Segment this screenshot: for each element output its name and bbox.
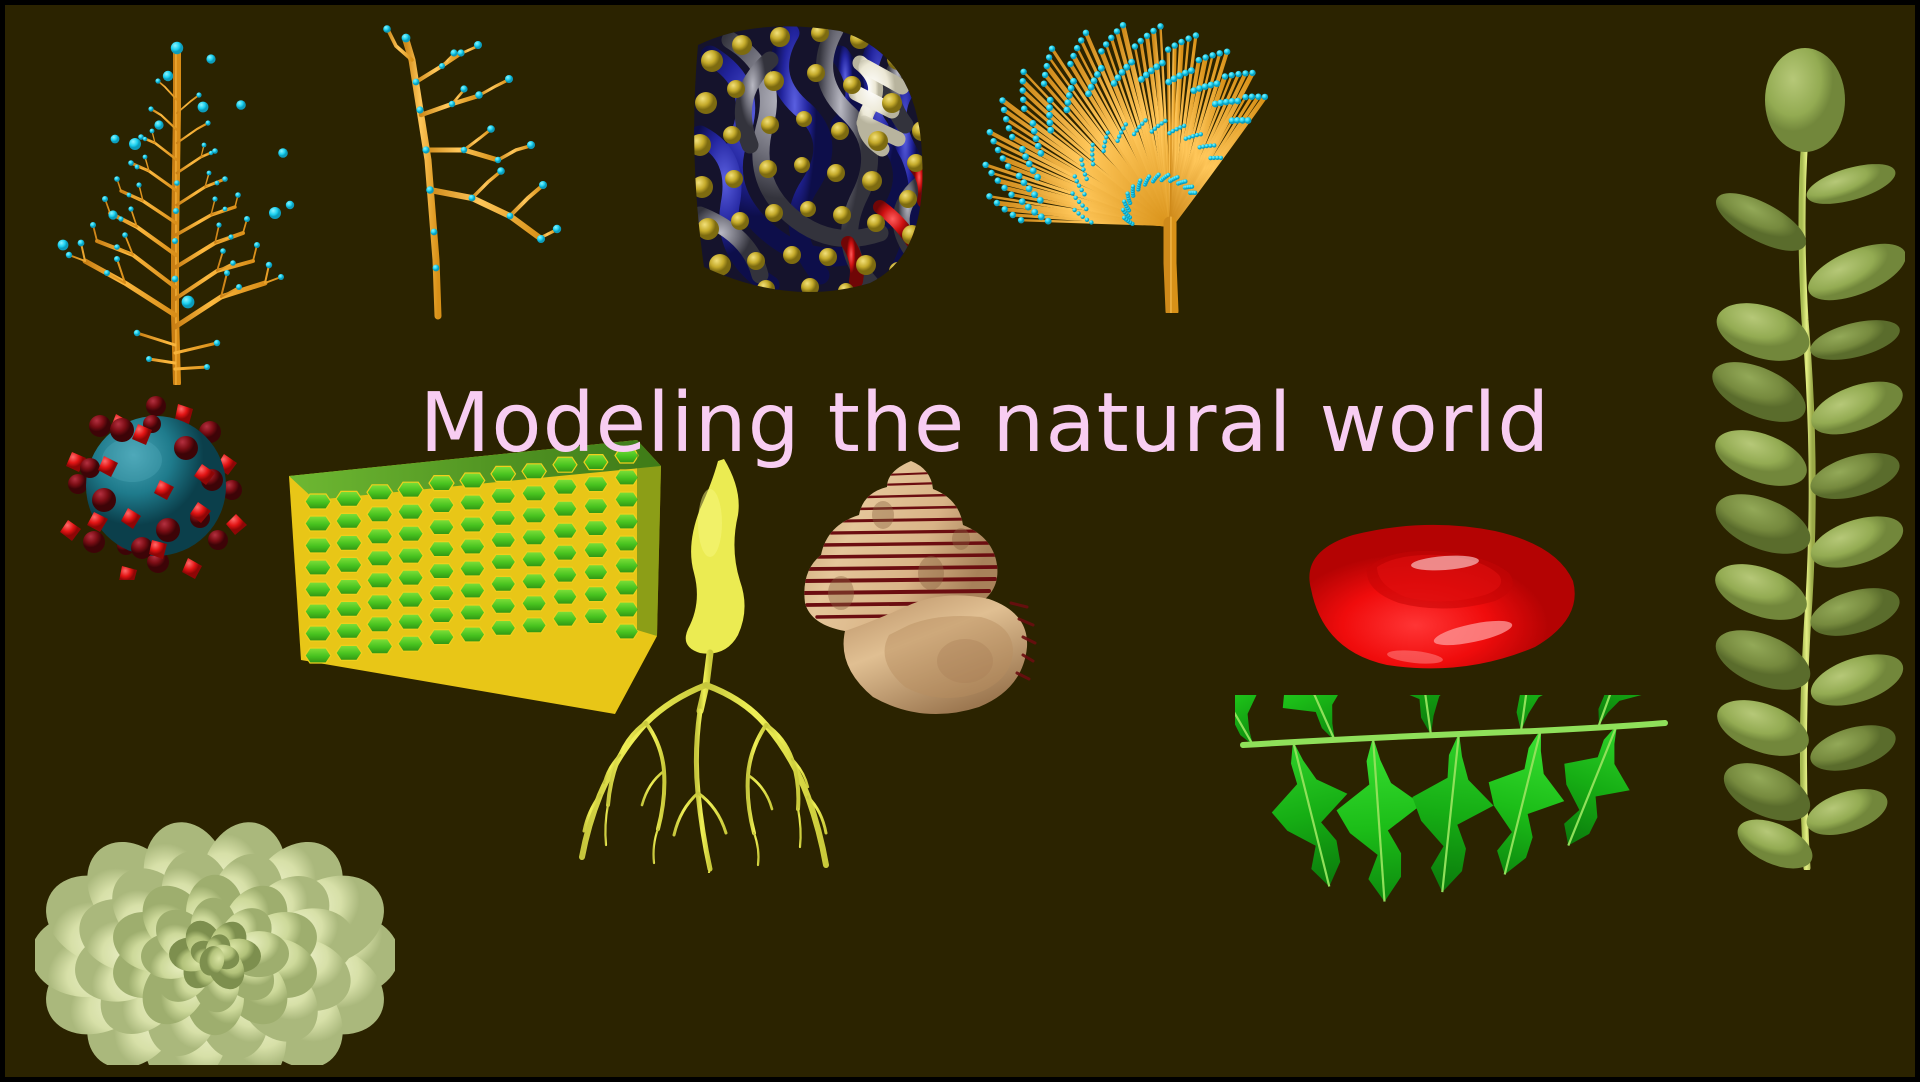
figure-sea-shell	[783, 453, 1038, 718]
figure-virus-particle	[60, 380, 255, 580]
poster-canvas: Modeling the natural world	[0, 0, 1920, 1082]
figure-fan-inflorescence	[980, 13, 1365, 313]
figure-opposite-leaf-vine	[1705, 40, 1905, 870]
figure-compound-leaf	[1235, 695, 1675, 1065]
figure-red-blood-cell	[1295, 515, 1585, 675]
figure-branching-tree	[25, 15, 325, 385]
figure-succulent-rosette	[35, 775, 395, 1065]
figure-protein-molecule	[670, 15, 955, 305]
figure-sparse-sapling	[360, 20, 610, 320]
